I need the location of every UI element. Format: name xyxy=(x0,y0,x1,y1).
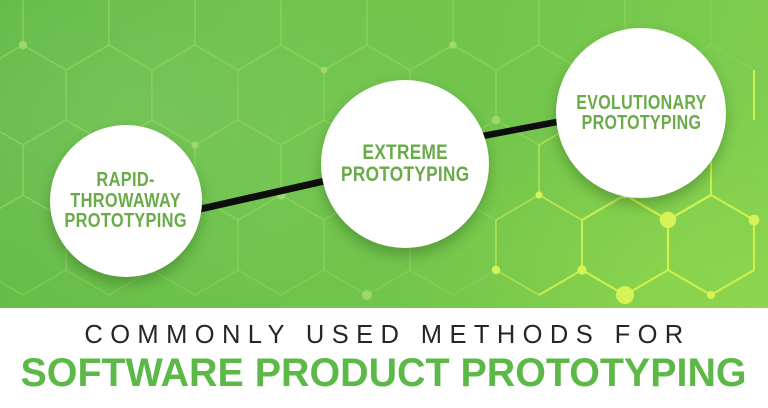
title-banner: COMMONLY USED METHODS FOR SOFTWARE PRODU… xyxy=(0,308,768,408)
hero-panel: RAPID- THROWAWAY PROTOTYPING EXTREME PRO… xyxy=(0,0,768,308)
node-label-evolutionary-prototyping: EVOLUTIONARY PROTOTYPING xyxy=(576,93,706,134)
banner-subtitle: COMMONLY USED METHODS FOR xyxy=(77,321,690,350)
connector-1-2 xyxy=(196,178,338,210)
banner-title: SOFTWARE PRODUCT PROTOTYPING xyxy=(21,351,747,396)
node-label-extreme-prototyping: EXTREME PROTOTYPING xyxy=(341,142,469,186)
node-evolutionary-prototyping[interactable]: EVOLUTIONARY PROTOTYPING xyxy=(556,28,726,198)
infographic-root: RAPID- THROWAWAY PROTOTYPING EXTREME PRO… xyxy=(0,0,768,408)
node-rapid-throwaway-prototyping[interactable]: RAPID- THROWAWAY PROTOTYPING xyxy=(50,125,202,277)
node-label-rapid-throwaway-prototyping: RAPID- THROWAWAY PROTOTYPING xyxy=(65,170,188,233)
node-extreme-prototyping[interactable]: EXTREME PROTOTYPING xyxy=(321,80,489,248)
